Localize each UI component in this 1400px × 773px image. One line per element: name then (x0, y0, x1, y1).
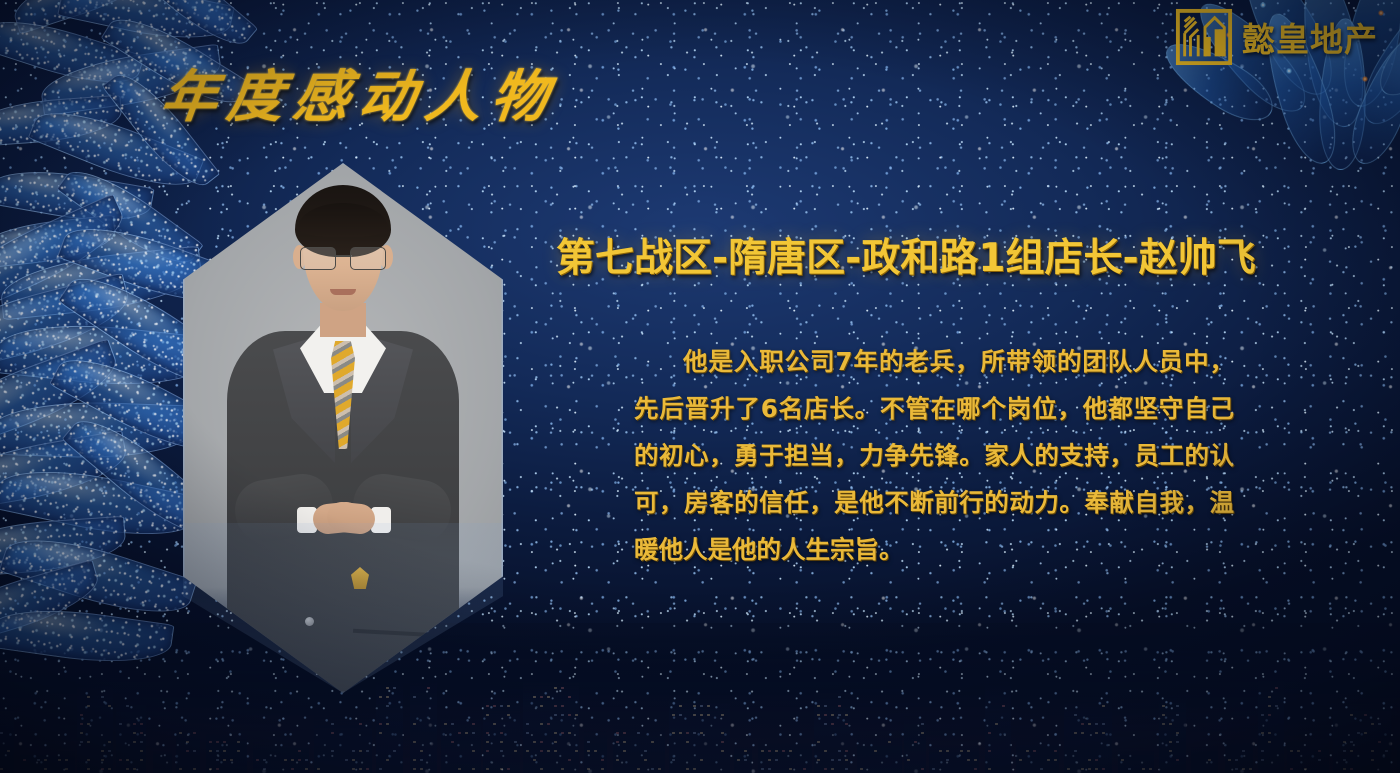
vignette-overlay (0, 0, 1400, 773)
poster-canvas: 年度感动人物 懿皇地产 (0, 0, 1400, 773)
